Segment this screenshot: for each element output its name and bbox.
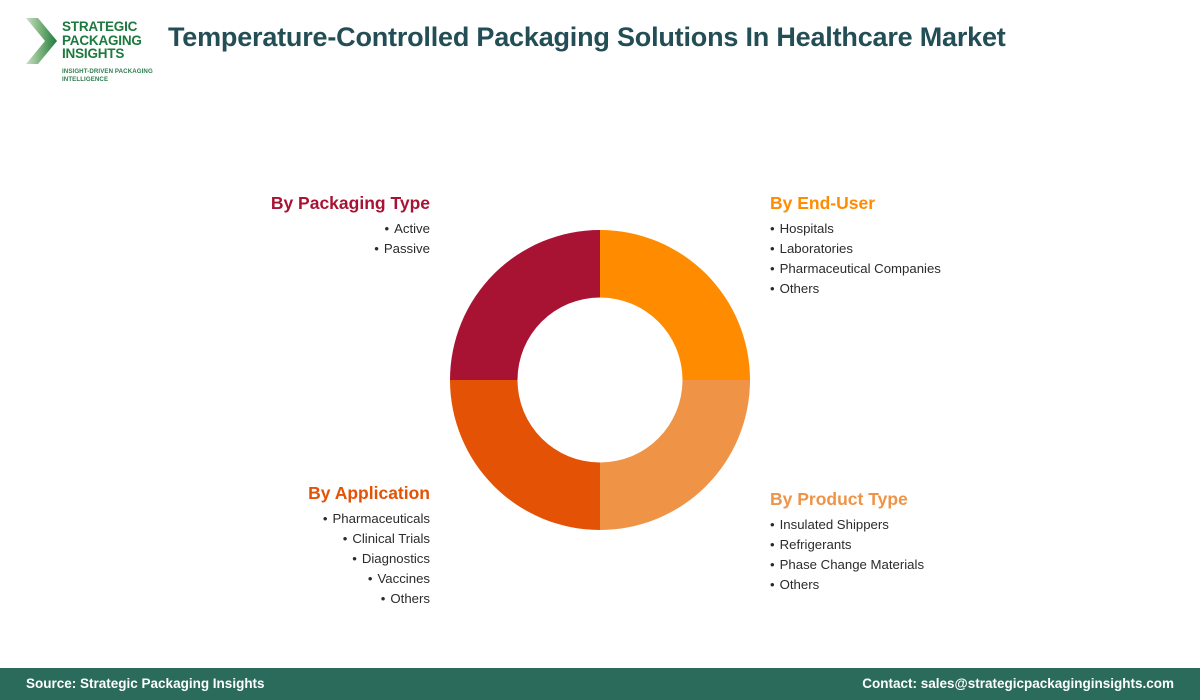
list-item: Others [770, 279, 1110, 299]
list-item: Active [100, 219, 430, 239]
infographic-page: STRATEGIC PACKAGING INSIGHTS INSIGHT-DRI… [0, 0, 1200, 700]
donut-slice-packaging-type[interactable] [450, 230, 600, 380]
list-item: Others [80, 589, 430, 609]
list-item: Hospitals [770, 219, 1110, 239]
list-item: Pharmaceutical Companies [770, 259, 1110, 279]
segment-title-packaging-type: By Packaging Type [100, 192, 430, 214]
list-item: Laboratories [770, 239, 1110, 259]
list-item: Refrigerants [770, 535, 1110, 555]
segment-product-type: By Product Type Insulated Shippers Refri… [770, 488, 1110, 595]
list-item: Phase Change Materials [770, 555, 1110, 575]
list-item: Pharmaceuticals [80, 509, 430, 529]
donut-slice-end-user[interactable] [600, 230, 750, 380]
segment-items-packaging-type: Active Passive [100, 219, 430, 259]
donut-slice-product-type[interactable] [600, 380, 750, 530]
donut-chart [450, 230, 750, 530]
list-item: Others [770, 575, 1110, 595]
list-item: Diagnostics [80, 549, 430, 569]
segment-title-product-type: By Product Type [770, 488, 1110, 510]
segment-items-product-type: Insulated Shippers Refrigerants Phase Ch… [770, 515, 1110, 595]
segment-items-application: Pharmaceuticals Clinical Trials Diagnost… [80, 509, 430, 609]
page-header: STRATEGIC PACKAGING INSIGHTS INSIGHT-DRI… [0, 0, 1200, 90]
list-item: Passive [100, 239, 430, 259]
donut-slice-application[interactable] [450, 380, 600, 530]
page-title: Temperature-Controlled Packaging Solutio… [168, 20, 1068, 54]
chevron-right-icon [24, 16, 60, 66]
segment-application: By Application Pharmaceuticals Clinical … [80, 482, 430, 609]
logo-tagline: INSIGHT-DRIVEN PACKAGING INTELLIGENCE [62, 68, 189, 84]
list-item: Insulated Shippers [770, 515, 1110, 535]
segment-items-end-user: Hospitals Laboratories Pharmaceutical Co… [770, 219, 1110, 299]
list-item: Clinical Trials [80, 529, 430, 549]
page-footer: Source: Strategic Packaging Insights Con… [0, 668, 1200, 700]
donut-chart-svg [450, 230, 750, 530]
segment-title-application: By Application [80, 482, 430, 504]
segment-packaging-type: By Packaging Type Active Passive [100, 192, 430, 259]
segment-title-end-user: By End-User [770, 192, 1110, 214]
segment-end-user: By End-User Hospitals Laboratories Pharm… [770, 192, 1110, 299]
list-item: Vaccines [80, 569, 430, 589]
footer-source: Source: Strategic Packaging Insights [26, 676, 265, 692]
footer-contact[interactable]: Contact: sales@strategicpackaginginsight… [862, 676, 1174, 692]
